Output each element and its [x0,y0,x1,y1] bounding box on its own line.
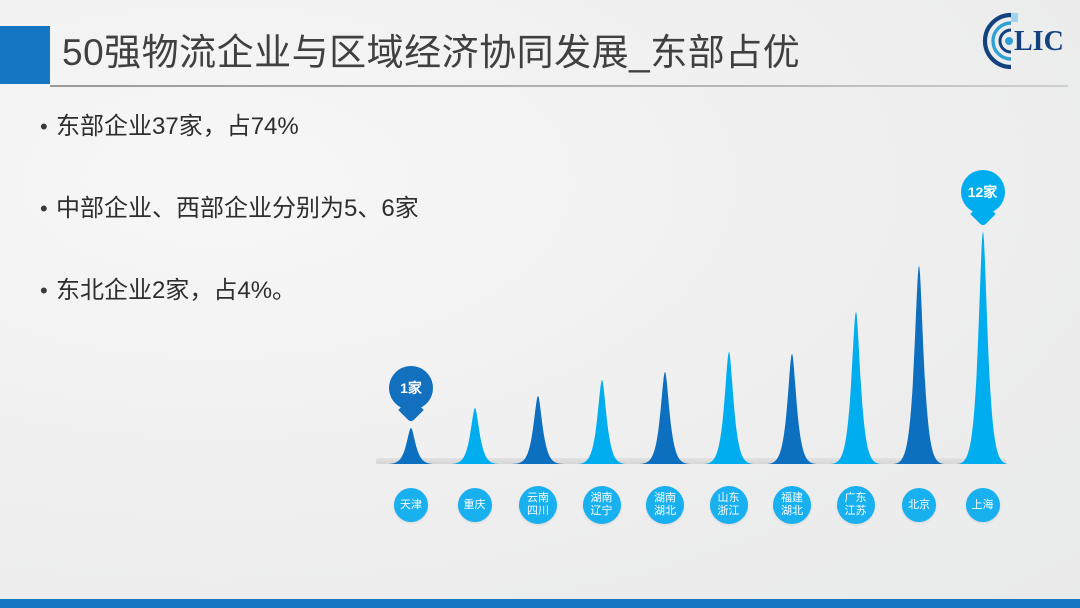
category-chip-7[interactable]: 福建湖北 [773,486,811,524]
list-item: • 东部企业37家，占74% [40,110,560,144]
category-label-line1: 重庆 [464,499,486,512]
bullet-text: 东部企业37家，占74% [56,110,299,144]
bullet-marker: • [40,274,56,308]
category-label-line1: 天津 [400,499,422,512]
pin-label: 12家 [968,182,998,202]
title-divider [50,85,1068,87]
category-label-line1: 湖南 [591,492,613,505]
category-chip-6[interactable]: 山东浙江 [710,486,748,524]
bullet-text: 东北企业2家，占4%。 [56,274,296,308]
footer-bar [0,599,1080,608]
category-label-line2: 辽宁 [591,505,613,518]
category-label-line2: 四川 [527,505,549,518]
category-chip-4[interactable]: 湖南辽宁 [583,486,621,524]
pin-tianjin: 1家 [389,366,433,410]
bell-curve-chart: 1家12家 天津重庆云南四川湖南辽宁湖南湖北山东浙江福建湖北广东江苏北京上海 [370,196,1020,536]
category-chip-1[interactable]: 天津 [394,488,428,522]
bell-curve-5 [638,372,692,464]
category-label-line2: 湖北 [654,505,676,518]
bell-curve-4 [575,380,629,464]
bell-curve-1 [384,428,438,464]
bullet-text: 中部企业、西部企业分别为5、6家 [56,192,419,226]
category-chip-5[interactable]: 湖南湖北 [646,486,684,524]
category-label-line1: 湖南 [654,492,676,505]
title-accent-block [0,26,50,84]
category-label-line1: 上海 [972,499,994,512]
pin-label: 1家 [400,378,422,398]
category-chip-3[interactable]: 云南四川 [519,486,557,524]
bell-curve-9 [892,266,946,464]
bullet-marker: • [40,110,56,144]
category-label-line1: 北京 [908,499,930,512]
category-label-line1: 广东 [845,492,867,505]
category-label-line2: 浙江 [718,505,740,518]
slide-canvas: 50强物流企业与区域经济协同发展_东部占优 LIC • 东部企业37家，占74%… [0,0,1080,608]
page-title: 50强物流企业与区域经济协同发展_东部占优 [62,22,800,84]
category-label-line2: 湖北 [781,505,803,518]
bullet-marker: • [40,192,56,226]
category-label-line1: 福建 [781,492,803,505]
bell-curve-8 [829,312,883,464]
bell-curve-10 [956,232,1010,464]
category-chip-10[interactable]: 上海 [966,488,1000,522]
pin-shanghai: 12家 [961,170,1005,214]
category-chip-9[interactable]: 北京 [902,488,936,522]
category-label-line1: 山东 [718,492,740,505]
logo-text: LIC [1014,26,1064,57]
bell-curve-3 [511,396,565,464]
category-chip-2[interactable]: 重庆 [458,488,492,522]
bell-curve-7 [765,354,819,464]
bell-curve-2 [448,408,502,464]
bell-curve-6 [702,352,756,464]
clic-logo: LIC [978,6,1064,78]
category-label-line2: 江苏 [845,505,867,518]
category-label-line1: 云南 [527,492,549,505]
category-chip-8[interactable]: 广东江苏 [837,486,875,524]
